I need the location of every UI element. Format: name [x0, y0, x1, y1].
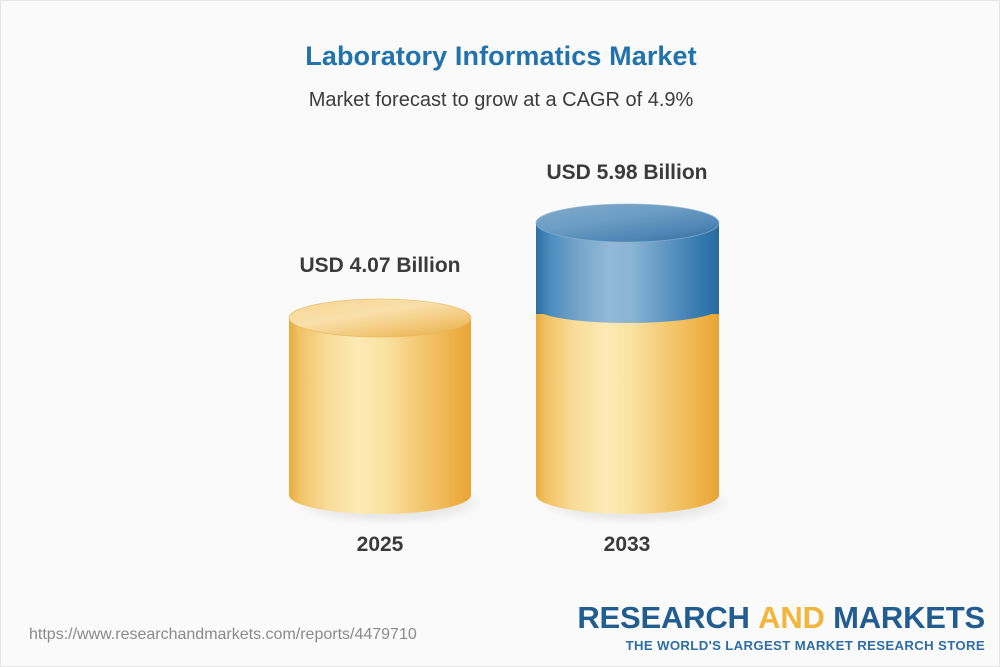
research-and-markets-logo[interactable]: RESEARCH AND MARKETS THE WORLD'S LARGEST… [577, 602, 985, 652]
chart-title: Laboratory Informatics Market [1, 41, 1000, 72]
bar-2025 [289, 299, 471, 514]
bar-value-label-2025: USD 4.07 Billion [230, 254, 530, 278]
logo-tagline: THE WORLD'S LARGEST MARKET RESEARCH STOR… [577, 639, 985, 652]
bar-2033 [536, 204, 719, 514]
source-url[interactable]: https://www.researchandmarkets.com/repor… [29, 626, 417, 644]
chart-subtitle: Market forecast to grow at a CAGR of 4.9… [1, 89, 1000, 112]
chart-canvas: Laboratory Informatics Market Market for… [0, 0, 1000, 667]
bar-category-label-2033: 2033 [477, 533, 777, 557]
logo-wordmark: RESEARCH AND MARKETS [577, 602, 985, 633]
logo-word-markets: MARKETS [833, 600, 985, 635]
logo-word-and: AND [758, 600, 825, 635]
logo-word-research: RESEARCH [577, 600, 749, 635]
bar-value-label-2033: USD 5.98 Billion [477, 161, 777, 185]
bar-2033-cylinder [536, 204, 719, 514]
bar-2025-cylinder [289, 299, 471, 514]
